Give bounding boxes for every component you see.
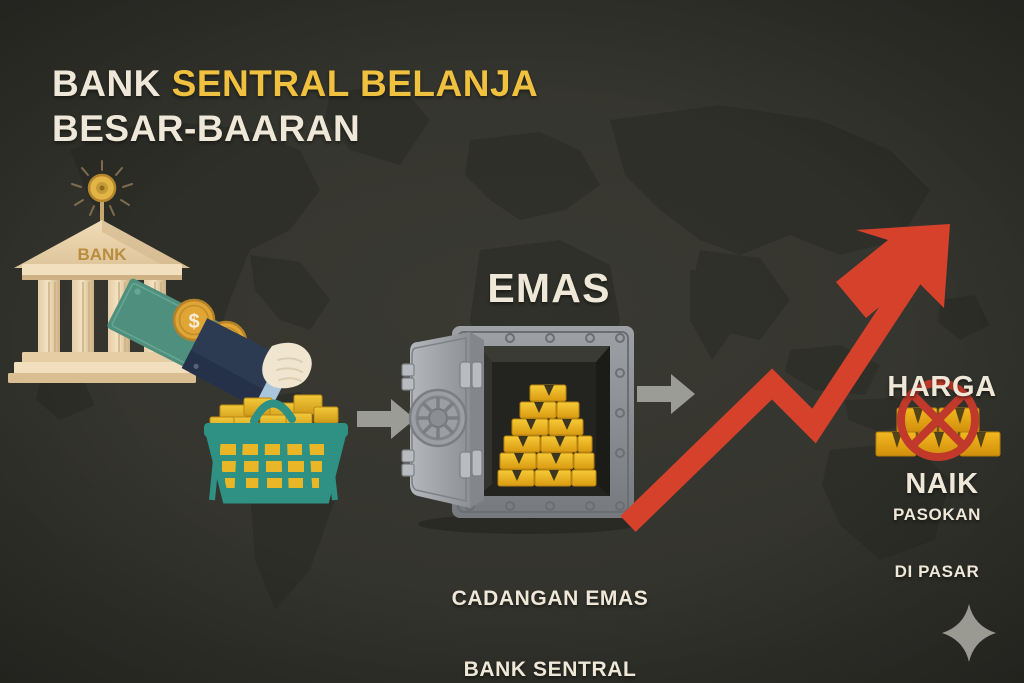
vault-wheel-handle bbox=[410, 390, 466, 446]
vault-door bbox=[402, 332, 484, 508]
pasokan-label: PASOKAN DI PASAR bbox=[852, 467, 1022, 619]
pasokan-line2: DI PASAR bbox=[852, 562, 1022, 581]
pasokan-line1: PASOKAN bbox=[852, 505, 1022, 524]
harga-naik-line1: HARGA bbox=[860, 371, 1024, 403]
title-line1-part1: BANK bbox=[52, 63, 172, 104]
bank-sign-text: BANK bbox=[77, 245, 127, 264]
page-title: BANK SENTRAL BELANJA BESAR-BAARAN bbox=[52, 61, 538, 151]
gold-basket-illustration bbox=[196, 355, 356, 510]
basket-body bbox=[204, 423, 348, 500]
title-line2: BESAR-BAARAN bbox=[52, 108, 360, 149]
vault-caption-line2: BANK SENTRAL bbox=[400, 658, 700, 682]
emas-label: EMAS bbox=[404, 266, 694, 312]
title-line1-highlight: SENTRAL BELANJA bbox=[172, 63, 539, 104]
infographic-canvas: BANK SENTRAL BELANJA BESAR-BAARAN bbox=[0, 0, 1024, 683]
svg-text:$: $ bbox=[188, 311, 199, 333]
vault-caption: CADANGAN EMAS BANK SENTRAL bbox=[400, 540, 700, 683]
vault-caption-line1: CADANGAN EMAS bbox=[400, 587, 700, 611]
